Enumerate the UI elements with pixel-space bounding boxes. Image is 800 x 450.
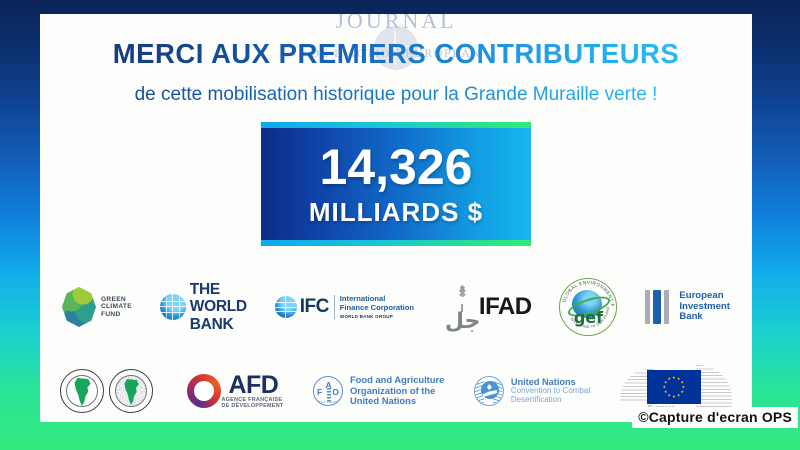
logo-abbr: gef <box>559 308 617 327</box>
logo-abbr: IFAD <box>479 293 532 321</box>
screenshot-credit: ©Capture d'ecran OPS <box>632 407 798 428</box>
fao-seal-icon: F A O FIAT PANIS <box>313 376 343 406</box>
logo-label-line: WORLD BANK GROUP <box>340 314 414 319</box>
logo-green-climate-fund: GREEN CLIMATE FUND <box>62 287 132 327</box>
page-title: MERCI AUX PREMIERS CONTRIBUTEURS <box>40 38 752 70</box>
logo-abbr: IFC <box>300 296 329 318</box>
logo-label: European Investment Bank <box>679 291 730 323</box>
logo-label-line: GREEN <box>101 296 132 303</box>
logo-label-line: FUND <box>101 311 132 318</box>
wheat-icon: جل <box>442 285 482 329</box>
logo-label: THE WORLD BANK <box>190 281 247 333</box>
logo-row-primary: GREEN CLIMATE FUND THE WORLD BANK IFC <box>50 272 742 342</box>
logo-label-line: DE DÉVELOPPEMENT <box>221 403 283 409</box>
logo-label: AFD AGENCE FRANÇAISE DE DÉVELOPPEMENT <box>221 373 283 409</box>
logo-label-line: Bank <box>679 312 730 323</box>
logo-label-line: United Nations <box>350 396 444 407</box>
globe-icon <box>275 296 297 318</box>
logo-abbr: AFD <box>228 373 283 397</box>
africa-seal-rays-icon <box>109 369 153 413</box>
polygon-gem-icon <box>62 287 96 327</box>
logo-label-line: CLIMATE <box>101 303 132 310</box>
globe-orbit-icon: GLOBAL ENVIRONMENT FACILITY INVESTING IN… <box>559 278 617 336</box>
logo-european-investment-bank: European Investment Bank <box>645 290 730 324</box>
logo-label-line: European <box>679 291 730 302</box>
logo-label-line: WORLD <box>190 298 247 315</box>
logo-label: International Finance Corporation WORLD … <box>340 295 414 319</box>
logo-fao: F A O FIAT PANIS Food and Agriculture Or… <box>313 375 444 407</box>
amount-callout: 14,326 MILLIARDS $ <box>261 122 531 246</box>
globe-icon <box>160 294 186 320</box>
logo-ifad: جل IFAD <box>442 285 532 329</box>
logo-african-development-banks <box>60 369 158 413</box>
divider <box>334 295 335 319</box>
amount-unit: MILLIARDS $ <box>309 197 483 227</box>
africa-seal-icon <box>60 369 104 413</box>
page-subtitle: de cette mobilisation historique pour la… <box>40 84 752 106</box>
logo-label: Food and Agriculture Organization of the… <box>350 375 444 407</box>
logo-label-line: Finance Corporation <box>340 304 414 313</box>
seal-motto: FIAT PANIS <box>314 400 342 404</box>
logo-label: United Nations Convention to Combat Dese… <box>511 377 591 405</box>
logo-label-line: BANK <box>190 316 247 333</box>
bars-icon <box>645 290 672 324</box>
logo-label-line: THE <box>190 281 247 298</box>
logo-label: GREEN CLIMATE FUND <box>101 296 132 318</box>
logo-the-world-bank: THE WORLD BANK <box>160 281 247 333</box>
logo-afd: AFD AGENCE FRANÇAISE DE DÉVELOPPEMENT <box>187 373 283 409</box>
seal-letter: O <box>332 387 339 397</box>
logo-unccd: United Nations Convention to Combat Dese… <box>474 376 591 406</box>
slide-card: LE JOURNAL DE L'ACTION EUROPEAN MERCI AU… <box>40 14 752 422</box>
ring-icon <box>187 374 221 408</box>
logo-label-line: Desertification <box>511 396 591 405</box>
amount-value: 14,326 <box>320 141 473 193</box>
seal-letter: F <box>317 387 322 397</box>
logo-gef: GLOBAL ENVIRONMENT FACILITY INVESTING IN… <box>559 278 617 336</box>
un-seal-icon <box>474 376 504 406</box>
logo-ifc: IFC International Finance Corporation WO… <box>275 295 414 319</box>
